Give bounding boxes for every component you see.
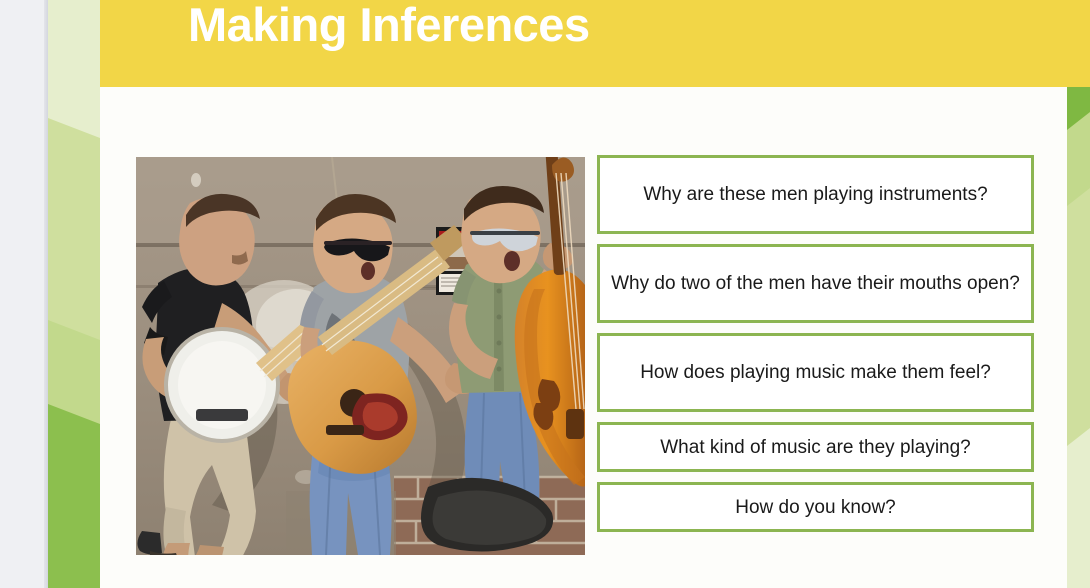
question-box[interactable]: What kind of music are they playing? — [597, 422, 1034, 472]
question-box[interactable]: Why do two of the men have their mouths … — [597, 244, 1034, 323]
title-bar: Making Inferences — [100, 0, 1090, 87]
inference-questions-list: Why are these men playing instruments? W… — [597, 155, 1034, 532]
question-box[interactable]: How do you know? — [597, 482, 1034, 532]
green-chevron-band-right — [1067, 0, 1090, 588]
slide-root: Making Inferences — [0, 0, 1090, 588]
page-title: Making Inferences — [188, 0, 590, 52]
question-box[interactable]: Why are these men playing instruments? — [597, 155, 1034, 234]
green-chevron-band-left — [48, 0, 100, 588]
question-box[interactable]: How does playing music make them feel? — [597, 333, 1034, 412]
busking-musicians-photo — [136, 157, 585, 555]
slide-canvas: Making Inferences — [48, 0, 1090, 588]
